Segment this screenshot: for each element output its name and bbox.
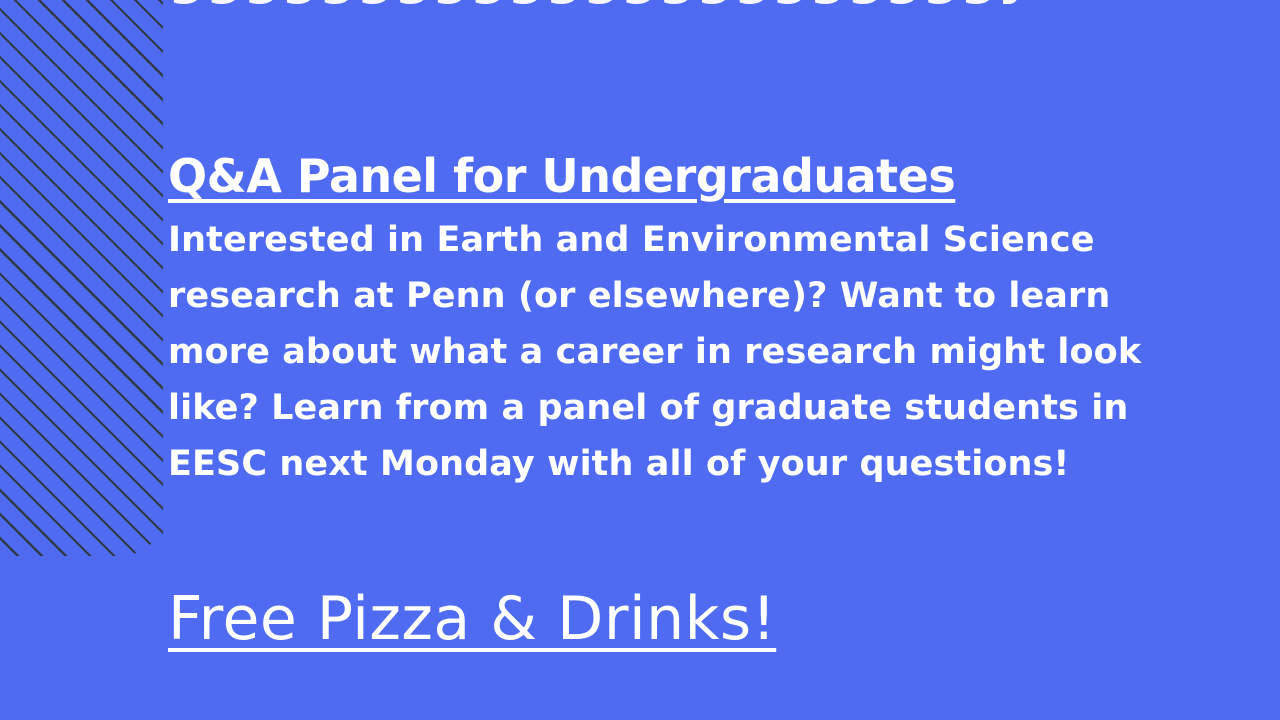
page-title: Q&A Panel for Undergraduates [168,152,1228,202]
cut-off-top-text: ggggggggggggggggggggggy [168,0,1228,6]
body-line: more about what a career in research mig… [168,324,1203,380]
body-line: Interested in Earth and Environmental Sc… [168,212,1203,268]
body-paragraph: Interested in Earth and Environmental Sc… [168,212,1203,492]
slide-canvas: ggggggggggggggggggggggy Q&A Panel for Un… [0,0,1280,720]
body-line: EESC next Monday with all of your questi… [168,436,1203,492]
body-line: like? Learn from a panel of graduate stu… [168,380,1203,436]
call-to-action-text: Free Pizza & Drinks! [168,588,776,651]
body-line: research at Penn (or elsewhere)? Want to… [168,268,1203,324]
content-column: Q&A Panel for Undergraduates Interested … [168,152,1228,492]
